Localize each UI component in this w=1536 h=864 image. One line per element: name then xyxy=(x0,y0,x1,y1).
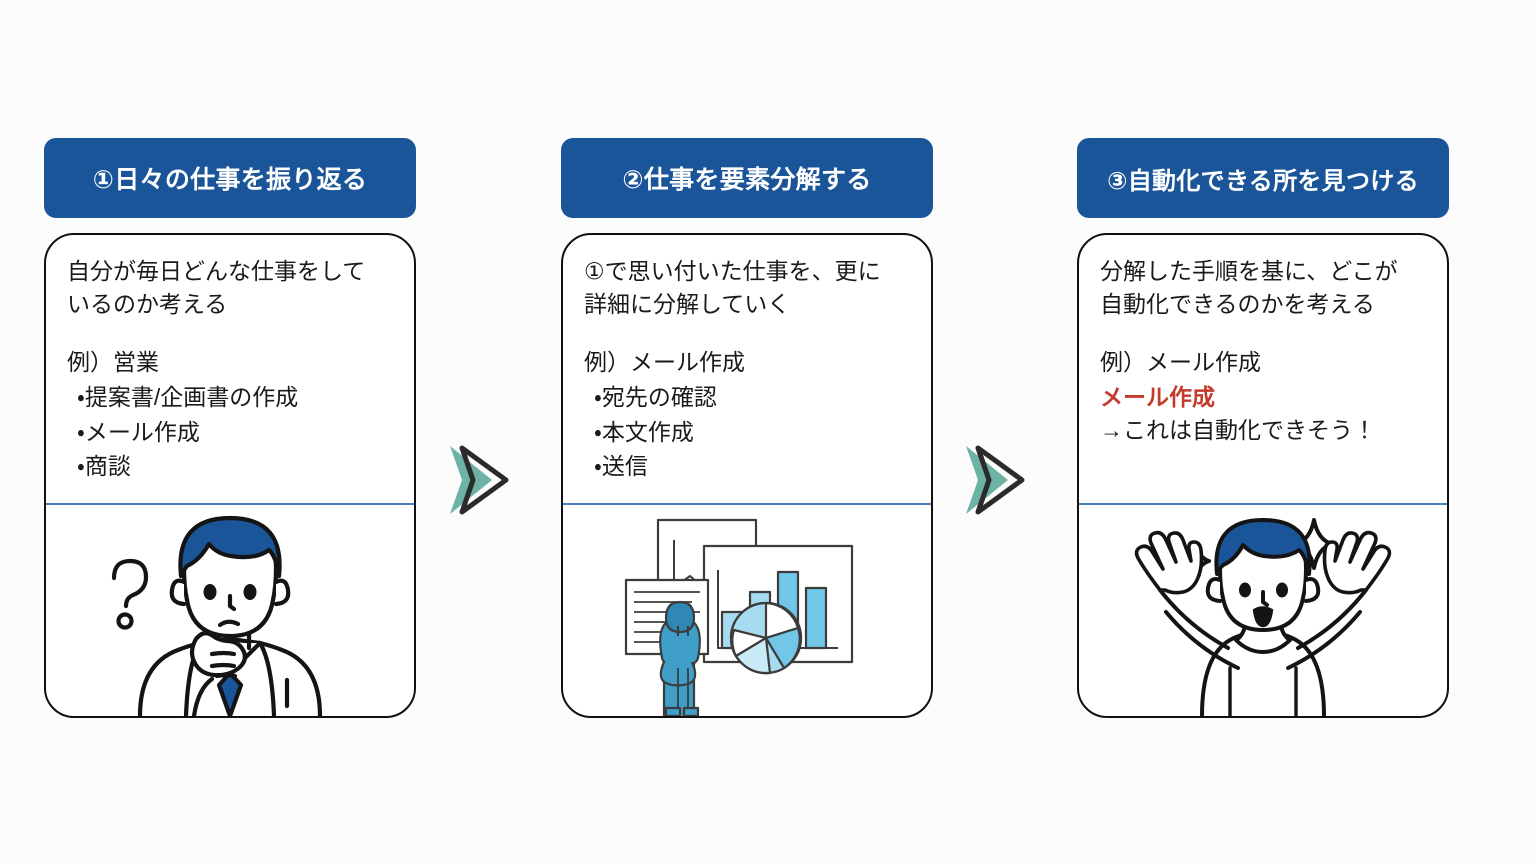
step-3-conclusion-text: →これは自動化できそう！ xyxy=(1100,414,1427,447)
step-2-lead-text: ①で思い付いた仕事を、更に 詳細に分解していく xyxy=(584,255,911,320)
chevron-right-icon xyxy=(962,440,1048,520)
slide-canvas: ①日々の仕事を振り返る 自分が毎日どんな仕事をして いるのか考える 例）営業 提… xyxy=(0,0,1536,864)
step-3-card-body-container: 分解した手順を基に、どこが 自動化できるのかを考える 例）メール作成 メール作成… xyxy=(1077,233,1449,718)
step-1-example-label: 例）営業 xyxy=(67,346,394,379)
step-3-illustration-area xyxy=(1079,505,1447,716)
chevron-right-icon xyxy=(446,440,532,520)
list-item: 送信 xyxy=(594,450,911,483)
list-item: 本文作成 xyxy=(594,416,911,449)
list-item: 宛先の確認 xyxy=(594,381,911,414)
list-item: 商談 xyxy=(77,450,394,483)
step-1-header-label: ①日々の仕事を振り返る xyxy=(93,160,367,196)
step-2-header-label: ②仕事を要素分解する xyxy=(622,160,871,196)
step-card-1: ①日々の仕事を振り返る 自分が毎日どんな仕事をして いるのか考える 例）営業 提… xyxy=(44,138,416,718)
spacer xyxy=(67,320,394,346)
presentation-charts-illustration xyxy=(612,510,882,716)
step-1-lead-text: 自分が毎日どんな仕事をして いるのか考える xyxy=(67,255,394,320)
flow-arrow-1 xyxy=(446,440,532,520)
celebrating-person-illustration xyxy=(1098,508,1428,716)
step-3-header: ③自動化できる所を見つける xyxy=(1077,138,1449,218)
step-1-text-block: 自分が毎日どんな仕事をして いるのか考える 例）営業 提案書/企画書の作成 メー… xyxy=(46,235,414,503)
step-3-highlight-text: メール作成 xyxy=(1100,381,1427,414)
step-1-item-list: 提案書/企画書の作成 メール作成 商談 xyxy=(67,381,394,483)
step-1-card-body-container: 自分が毎日どんな仕事をして いるのか考える 例）営業 提案書/企画書の作成 メー… xyxy=(44,233,416,718)
step-2-illustration-area xyxy=(563,505,931,716)
list-item: 提案書/企画書の作成 xyxy=(77,381,394,414)
step-2-text-block: ①で思い付いた仕事を、更に 詳細に分解していく 例）メール作成 宛先の確認 本文… xyxy=(563,235,931,503)
list-item: メール作成 xyxy=(77,416,394,449)
step-1-illustration-area xyxy=(46,505,414,716)
step-3-lead-text: 分解した手順を基に、どこが 自動化できるのかを考える xyxy=(1100,255,1427,320)
step-2-item-list: 宛先の確認 本文作成 送信 xyxy=(584,381,911,483)
step-3-header-label: ③自動化できる所を見つける xyxy=(1107,161,1419,196)
spacer xyxy=(584,320,911,346)
step-card-2: ②仕事を要素分解する ①で思い付いた仕事を、更に 詳細に分解していく 例）メール… xyxy=(561,138,933,718)
thinking-person-illustration xyxy=(80,504,380,716)
spacer xyxy=(1100,320,1427,346)
step-1-header: ①日々の仕事を振り返る xyxy=(44,138,416,218)
step-2-example-label: 例）メール作成 xyxy=(584,346,911,379)
step-3-example-label: 例）メール作成 xyxy=(1100,346,1427,379)
step-card-3: ③自動化できる所を見つける 分解した手順を基に、どこが 自動化できるのかを考える… xyxy=(1077,138,1449,718)
step-2-header: ②仕事を要素分解する xyxy=(561,138,933,218)
step-2-card-body-container: ①で思い付いた仕事を、更に 詳細に分解していく 例）メール作成 宛先の確認 本文… xyxy=(561,233,933,718)
flow-arrow-2 xyxy=(962,440,1048,520)
step-3-text-block: 分解した手順を基に、どこが 自動化できるのかを考える 例）メール作成 メール作成… xyxy=(1079,235,1447,503)
